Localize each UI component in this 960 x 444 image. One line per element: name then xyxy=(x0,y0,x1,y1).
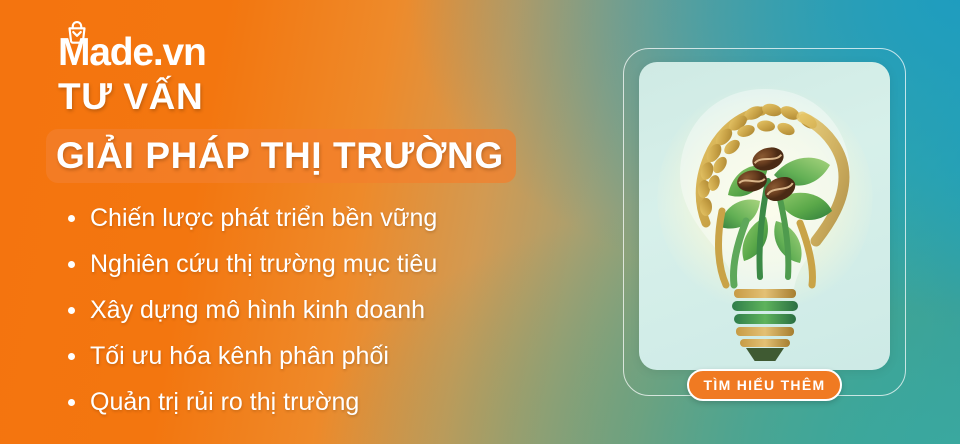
headline-line-1: TƯ VẤN xyxy=(58,78,614,115)
bullet-dot-icon xyxy=(68,399,75,406)
bullet-dot-icon xyxy=(68,261,75,268)
bullet-dot-icon xyxy=(68,307,75,314)
list-item-label: Chiến lược phát triển bền vững xyxy=(90,204,437,232)
learn-more-label: TÌM HIỂU THÊM xyxy=(704,377,826,393)
headline-highlight: GIẢI PHÁP THỊ TRƯỜNG xyxy=(46,129,516,183)
list-item: Tối ưu hóa kênh phân phối xyxy=(62,344,582,369)
list-item: Nghiên cứu thị trường mục tiêu xyxy=(62,252,582,277)
promo-banner: Made.vn TƯ VẤN GIẢI PHÁP THỊ TRƯỜNG Chiế… xyxy=(0,0,960,444)
headline-block: TƯ VẤN GIẢI PHÁP THỊ TRƯỜNG xyxy=(54,78,614,183)
list-item: Quản trị rủi ro thị trường xyxy=(62,390,582,415)
list-item-label: Quản trị rủi ro thị trường xyxy=(90,388,359,416)
list-item-label: Nghiên cứu thị trường mục tiêu xyxy=(90,250,437,278)
list-item-label: Tối ưu hóa kênh phân phối xyxy=(90,342,389,370)
shopping-bag-icon xyxy=(62,18,92,48)
illustration-card xyxy=(639,62,890,370)
list-item-label: Xây dựng mô hình kinh doanh xyxy=(90,296,425,324)
brand-logo[interactable]: Made.vn xyxy=(56,20,206,72)
learn-more-button[interactable]: TÌM HIỂU THÊM xyxy=(687,369,842,401)
bullet-dot-icon xyxy=(68,215,75,222)
bullet-dot-icon xyxy=(68,353,75,360)
feature-list: Chiến lược phát triển bền vững Nghiên cứ… xyxy=(62,206,582,436)
list-item: Xây dựng mô hình kinh doanh xyxy=(62,298,582,323)
lightbulb-illustration-icon xyxy=(650,71,880,361)
bulb-screw-base xyxy=(732,289,798,361)
list-item: Chiến lược phát triển bền vững xyxy=(62,206,582,231)
headline-line-2: GIẢI PHÁP THỊ TRƯỜNG xyxy=(56,135,504,176)
